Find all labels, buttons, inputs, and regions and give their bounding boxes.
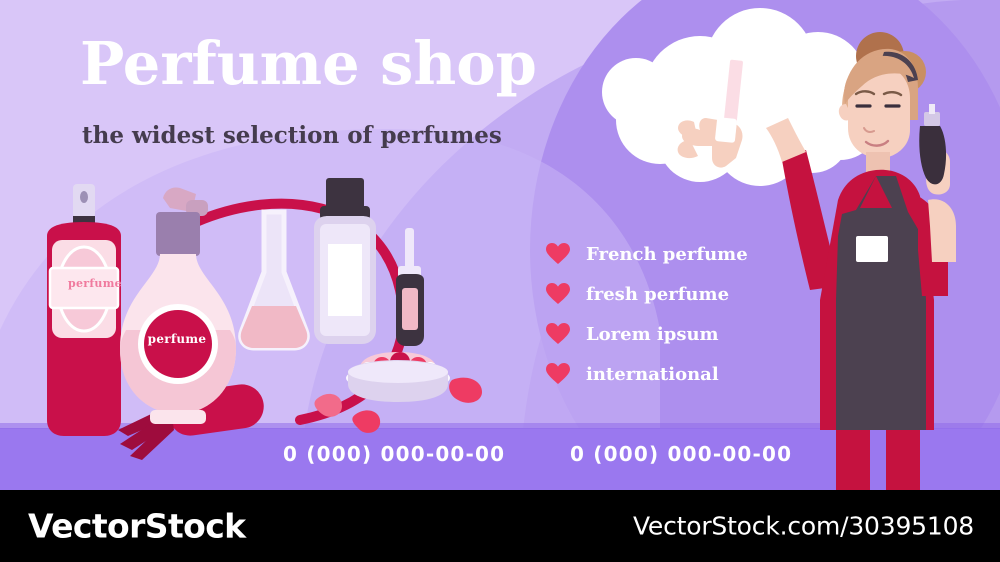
list-item-label: French perfume — [586, 244, 748, 265]
heart-icon — [546, 243, 570, 265]
bottle-label-red: perfume — [55, 277, 135, 290]
heart-icon — [546, 363, 570, 385]
phone-number-secondary[interactable]: 0 (000) 000-00-00 — [570, 442, 792, 466]
heart-icon — [546, 323, 570, 345]
list-item: international — [546, 354, 846, 394]
test-strip-base — [715, 117, 737, 143]
watermark-footer: VectorStock VectorStock.com/30395108 — [0, 490, 1000, 562]
list-item-label: international — [586, 364, 719, 385]
page-title: Perfume shop — [80, 34, 537, 93]
bottle-label-round: perfume — [138, 332, 216, 346]
vectorstock-logo: VectorStock — [28, 507, 246, 546]
vectorstock-watermark-url: VectorStock.com/30395108 — [633, 512, 974, 541]
name-tag — [856, 236, 888, 262]
list-item-label: Lorem ipsum — [586, 324, 719, 345]
feature-list: French perfume fresh perfume Lorem ipsum… — [546, 234, 846, 394]
list-item: Lorem ipsum — [546, 314, 846, 354]
page-subtitle: the widest selection of perfumes — [82, 124, 502, 147]
list-item-label: fresh perfume — [586, 284, 729, 305]
illustration-area: perfume perfume Perfume shop the widest … — [0, 0, 1000, 490]
poster-canvas: perfume perfume Perfume shop the widest … — [0, 0, 1000, 562]
phone-number-primary[interactable]: 0 (000) 000-00-00 — [283, 442, 505, 466]
heart-icon — [546, 283, 570, 305]
list-item: French perfume — [546, 234, 846, 274]
list-item: fresh perfume — [546, 274, 846, 314]
